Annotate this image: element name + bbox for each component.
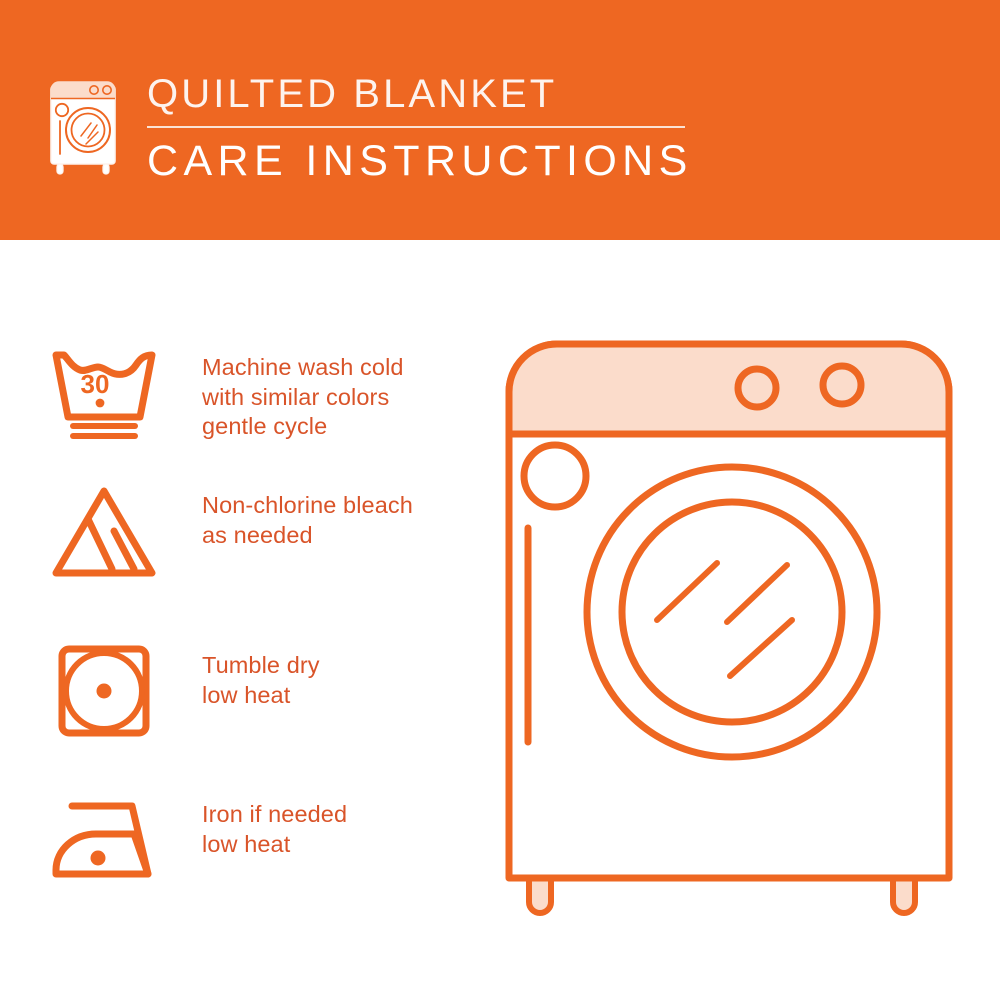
washing-machine-icon [46,68,126,176]
tumble-dry-low-heat-icon [48,643,160,739]
care-line: Tumble dry [202,651,320,681]
care-line: gentle cycle [202,412,404,442]
care-line: Non-chlorine bleach [202,491,413,521]
machine-leg-right [893,876,915,913]
header-banner: QUILTED BLANKET CARE INSTRUCTIONS [0,0,1000,240]
iron-low-heat-icon [48,792,160,888]
care-line: with similar colors [202,383,404,413]
care-row-tumble-dry: Tumble dry low heat [0,643,480,739]
control-panel [509,344,949,434]
machine-leg-left [529,876,551,913]
care-instruction-list: 30 Machine wash cold with similar colors… [0,240,480,1000]
washing-machine-illustration [495,330,965,930]
care-row-iron: Iron if needed low heat [0,792,480,888]
bleach-triangle-non-chlorine-icon [48,483,160,579]
care-line: as needed [202,521,413,551]
page-title-secondary: CARE INSTRUCTIONS [147,136,847,186]
care-text-iron: Iron if needed low heat [202,792,347,859]
care-text-bleach: Non-chlorine bleach as needed [202,483,413,550]
wash-temp-label: 30 [81,369,110,399]
page-title-primary: QUILTED BLANKET [147,70,847,118]
care-row-machine-wash: 30 Machine wash cold with similar colors… [0,345,480,442]
care-row-bleach: Non-chlorine bleach as needed [0,483,480,579]
care-line: Machine wash cold [202,353,404,383]
care-instructions-infographic: QUILTED BLANKET CARE INSTRUCTIONS 30 [0,0,1000,1000]
wash-basin-30-gentle-icon: 30 [48,345,160,441]
title-divider [147,126,685,128]
header-text-block: QUILTED BLANKET CARE INSTRUCTIONS [147,70,847,186]
care-line: Iron if needed [202,800,347,830]
care-line: low heat [202,681,320,711]
care-text-tumble-dry: Tumble dry low heat [202,643,320,710]
care-text-machine-wash: Machine wash cold with similar colors ge… [202,345,404,442]
care-line: low heat [202,830,347,860]
